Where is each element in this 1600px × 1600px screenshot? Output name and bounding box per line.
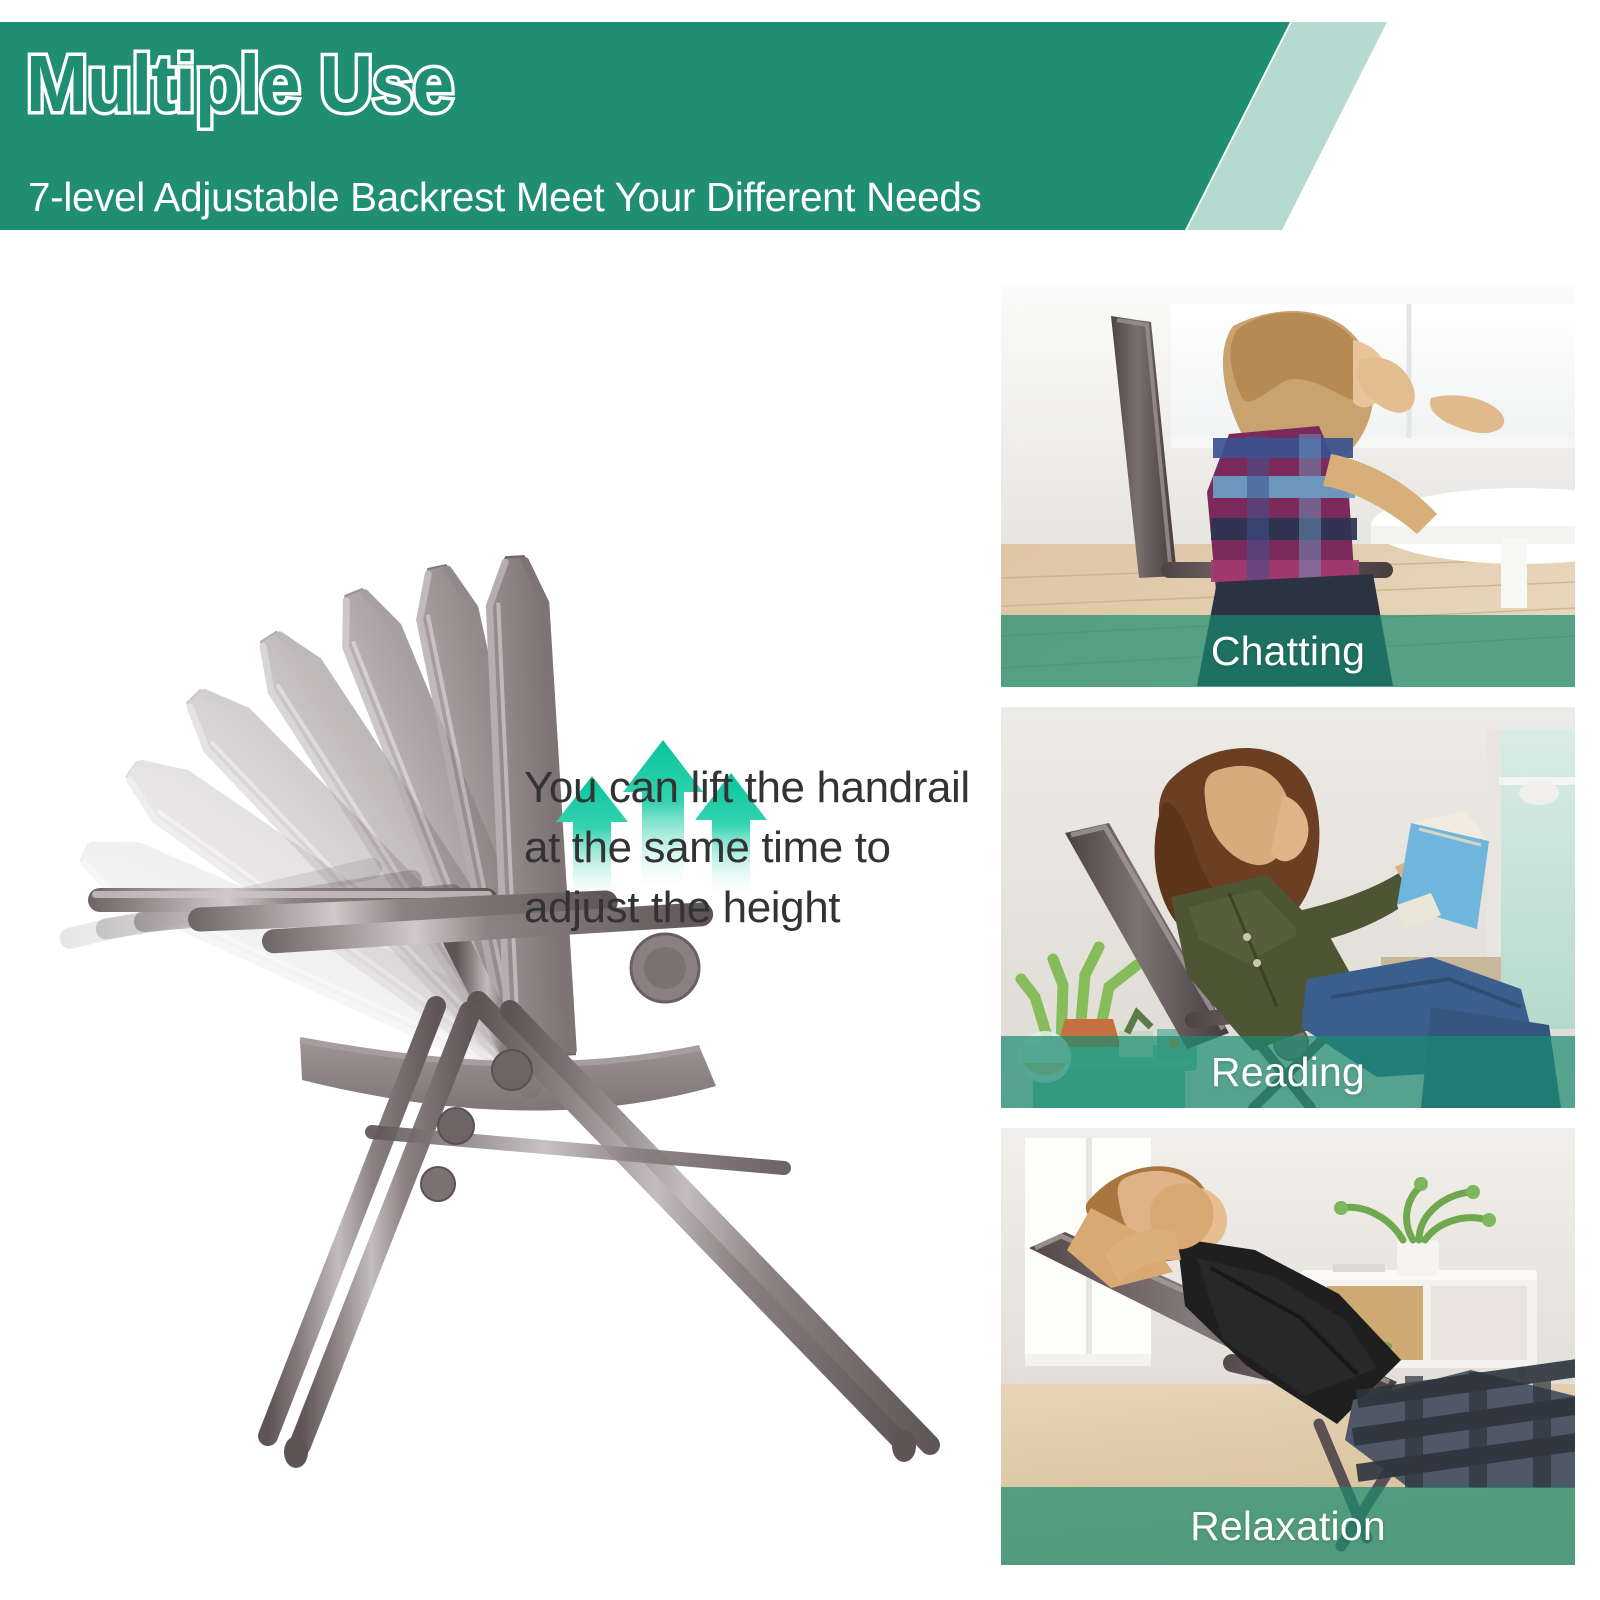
cross-brace [372,1132,784,1168]
callout-line-2: at the same time to [524,818,994,878]
caption-label: Reading [1211,1049,1365,1096]
foot-cap-rear [284,1436,308,1468]
front-leg-right-inner [510,1010,930,1445]
header-banner: Multiple Use 7-level Adjustable Backrest… [0,22,1600,230]
book [1397,811,1489,929]
pivot-hub-inner [644,947,686,989]
hinge-disc-bottom [421,1167,455,1201]
caption-band-reading: Reading [1001,1036,1575,1108]
use-case-panel-relaxation[interactable]: Relaxation [1001,1128,1575,1565]
caption-band-chatting: Chatting [1001,615,1575,687]
caption-label: Relaxation [1190,1503,1386,1550]
chair-illustration: You can lift the handrail at the same ti… [0,240,1000,1600]
use-case-panel-chatting[interactable]: Chatting [1001,286,1575,687]
callout-line-3: adjust the height [524,878,994,938]
hinge-disc-lower [438,1108,474,1144]
caption-band-relaxation: Relaxation [1001,1487,1575,1565]
caption-label: Chatting [1211,628,1365,675]
callout-line-1: You can lift the handrail [524,758,994,818]
foot-cap-front [892,1430,916,1462]
handrail-callout: You can lift the handrail at the same ti… [524,758,994,937]
page-title: Multiple Use [26,44,453,124]
page-subtitle: 7-level Adjustable Backrest Meet Your Di… [28,174,981,221]
hinge-disc-upper [492,1050,532,1090]
use-case-panel-reading[interactable]: Reading [1001,707,1575,1108]
